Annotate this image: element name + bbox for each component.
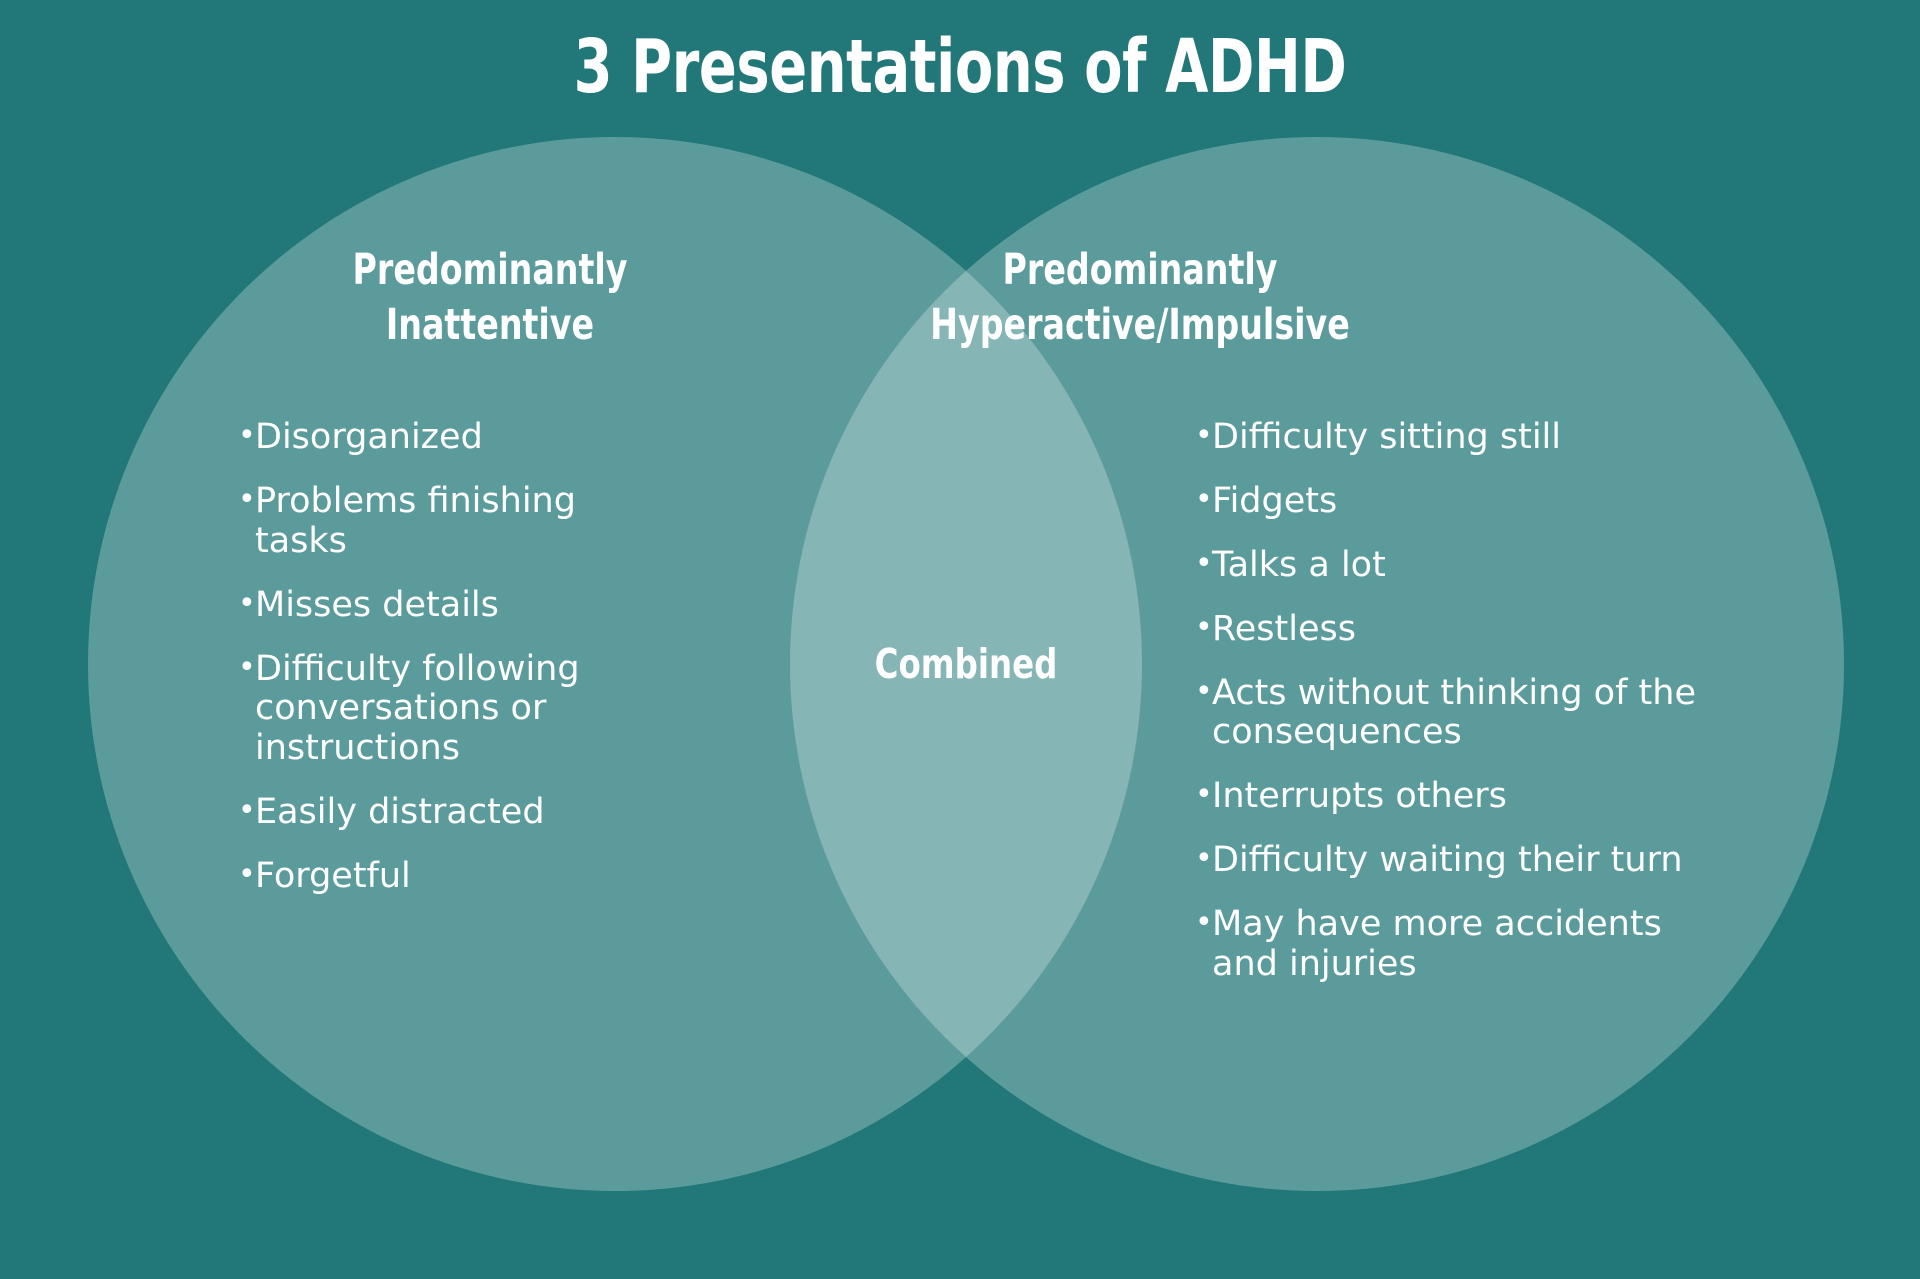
venn-heading-left-line2: Inattentive [288, 298, 692, 353]
venn-intersection-label: Combined [811, 640, 1121, 688]
list-item: May have more accidents and injuries [1195, 905, 1725, 985]
venn-heading-right-line1: Predominantly [873, 243, 1406, 298]
infographic-canvas: 3 Presentations of ADHD Predominantly In… [0, 0, 1920, 1279]
list-item: Interrupts others [1195, 777, 1725, 817]
venn-heading-right-line2: Hyperactive/Impulsive [873, 298, 1406, 353]
list-item: Misses details [238, 586, 658, 626]
list-item: Difficulty following conversations or in… [238, 650, 658, 770]
list-item: Disorganized [238, 418, 658, 458]
list-item: Easily distracted [238, 793, 658, 833]
page-title: 3 Presentations of ADHD [154, 24, 1767, 110]
venn-list-right: Difficulty sitting still Fidgets Talks a… [1195, 418, 1725, 1009]
list-item: Difficulty waiting their turn [1195, 841, 1725, 881]
list-item: Difficulty sitting still [1195, 418, 1725, 458]
venn-heading-right: Predominantly Hyperactive/Impulsive [873, 243, 1406, 353]
venn-heading-left-line1: Predominantly [288, 243, 692, 298]
list-item: Restless [1195, 610, 1725, 650]
list-item: Talks a lot [1195, 546, 1725, 586]
list-item: Problems finishing tasks [238, 482, 658, 562]
list-item: Acts without thinking of the consequence… [1195, 674, 1725, 754]
venn-heading-left: Predominantly Inattentive [288, 243, 692, 353]
list-item: Forgetful [238, 857, 658, 897]
venn-list-left: Disorganized Problems finishing tasks Mi… [238, 418, 658, 921]
list-item: Fidgets [1195, 482, 1725, 522]
